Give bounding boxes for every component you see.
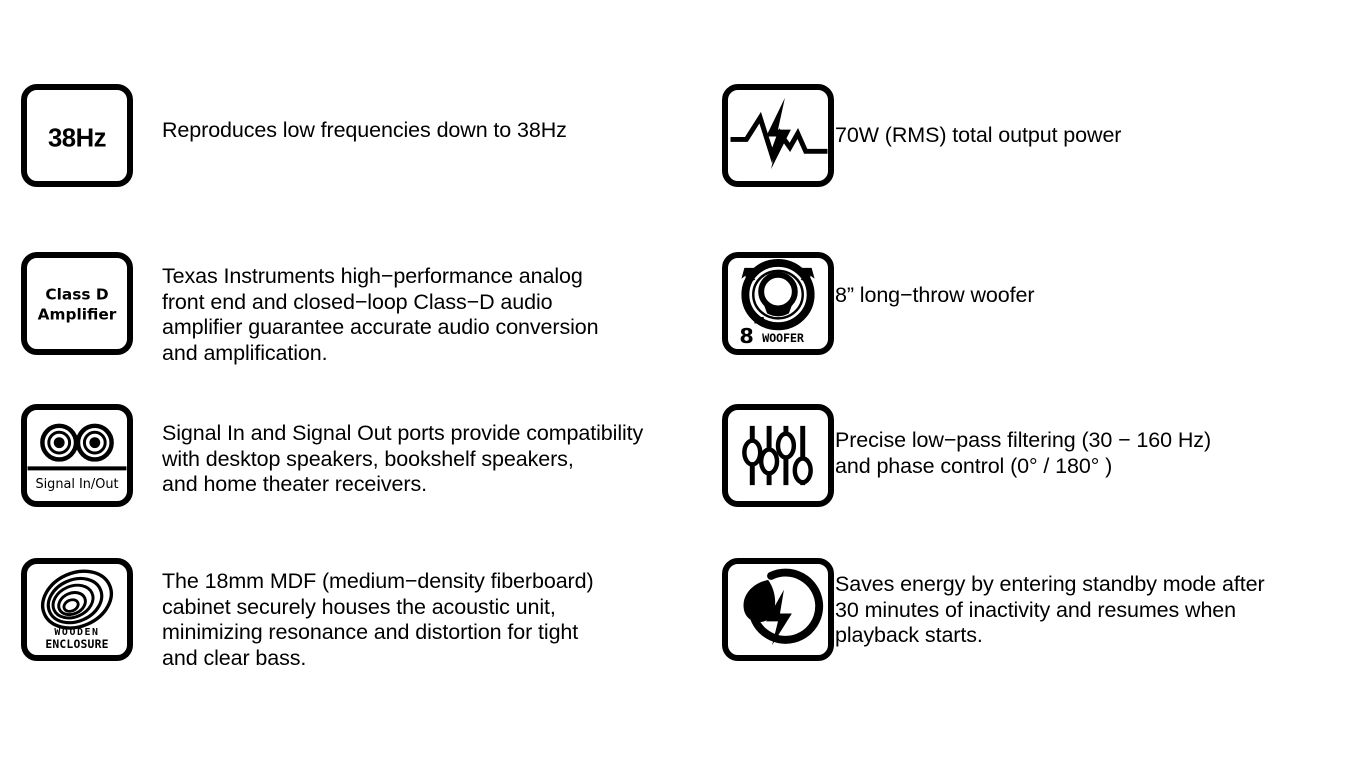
power-waveform-bolt-icon (722, 84, 834, 187)
frequency-38hz-icon: 38Hz (21, 84, 133, 187)
feature-text-woofer-size: 8” long−throw woofer (835, 283, 1034, 309)
class-d-amplifier-icon-line1: Class D (45, 286, 108, 304)
feature-item-class-d-amplifier: Class D Amplifier Texas Instruments high… (21, 252, 599, 366)
class-d-amplifier-icon: Class D Amplifier (21, 252, 133, 355)
feature-text-output-power: 70W (RMS) total output power (835, 123, 1121, 149)
rca-jack-left-icon (42, 426, 76, 460)
wooden-enclosure-icon: WOODEN ENCLOSURE (21, 558, 133, 661)
feature-item-output-power: 70W (RMS) total output power (722, 84, 1121, 187)
frequency-38hz-icon-text: 38Hz (48, 124, 106, 152)
signal-in-out-icon-text: Signal In/Out (35, 477, 118, 492)
class-d-amplifier-icon-line2: Amplifier (38, 305, 117, 323)
wooden-enclosure-icon-line2: ENCLOSURE (45, 637, 108, 651)
signal-in-out-icon: Signal In/Out (21, 404, 133, 507)
feature-item-standby-mode: Saves energy by entering standby mode af… (722, 558, 1265, 661)
equalizer-sliders-icon (722, 404, 834, 507)
eco-standby-leaf-bolt-icon (722, 558, 834, 661)
woofer-driver-icon: 8 ” WOOFER (722, 252, 834, 355)
woofer-icon-label: WOOFER (762, 331, 805, 345)
feature-item-woofer-size: 8 ” WOOFER 8” long−throw woofer (722, 252, 1034, 355)
feature-item-signal-in-out: Signal In/Out Signal In and Signal Out p… (21, 404, 643, 507)
feature-item-wooden-enclosure: WOODEN ENCLOSURE The 18mm MDF (medium−de… (21, 558, 594, 671)
rca-jack-right-icon (78, 426, 112, 460)
feature-text-low-frequency: Reproduces low frequencies down to 38Hz (162, 118, 567, 144)
feature-item-low-frequency: 38Hz Reproduces low frequencies down to … (21, 84, 567, 187)
feature-item-low-pass-filter: Precise low−pass filtering (30 − 160 Hz)… (722, 404, 1211, 507)
feature-list: 38Hz Reproduces low frequencies down to … (0, 0, 1366, 768)
feature-text-low-pass-filter: Precise low−pass filtering (30 − 160 Hz)… (835, 428, 1211, 479)
lightning-bolt-icon (766, 98, 791, 169)
feature-text-signal-in-out: Signal In and Signal Out ports provide c… (162, 421, 643, 498)
feature-text-standby-mode: Saves energy by entering standby mode af… (835, 572, 1265, 649)
feature-text-wooden-enclosure: The 18mm MDF (medium−density fiberboard)… (162, 569, 594, 671)
feature-text-class-d-amplifier: Texas Instruments high−performance analo… (162, 264, 599, 366)
